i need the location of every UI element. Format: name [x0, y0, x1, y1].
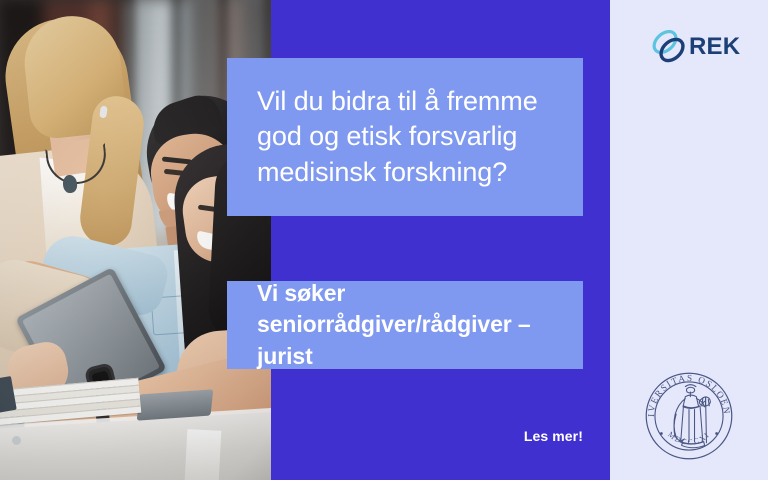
rek-rings-icon [650, 27, 688, 67]
uio-seal: UNIVERSITAS OSLOENSIS MDCCCXI [610, 362, 768, 472]
light-panel: REK UNIVERSITAS OSLOENSIS MDCCCXI [610, 0, 768, 480]
recruitment-banner: REK UNIVERSITAS OSLOENSIS MDCCCXI [0, 0, 768, 480]
job-title-text: Vi søker seniorrådgiver/rådgiver – juris… [257, 278, 553, 371]
laptop [137, 389, 214, 420]
uio-seal-icon: UNIVERSITAS OSLOENSIS MDCCCXI [643, 370, 735, 462]
uio-seal-outer-text: UNIVERSITAS OSLOENSIS [643, 370, 732, 417]
rek-wordmark: REK [689, 35, 740, 59]
headline-text: Vil du bidra til å fremme god og etisk f… [257, 84, 553, 191]
paper-sheet [185, 429, 222, 480]
job-title-box: Vi søker seniorrådgiver/rådgiver – juris… [227, 281, 583, 369]
read-more-link[interactable]: Les mer! [458, 428, 583, 444]
headline-box: Vil du bidra til å fremme god og etisk f… [227, 58, 583, 216]
rek-logo[interactable]: REK [650, 27, 750, 71]
svg-text:UNIVERSITAS OSLOENSIS: UNIVERSITAS OSLOENSIS [643, 370, 732, 417]
finger-ring [12, 436, 21, 445]
